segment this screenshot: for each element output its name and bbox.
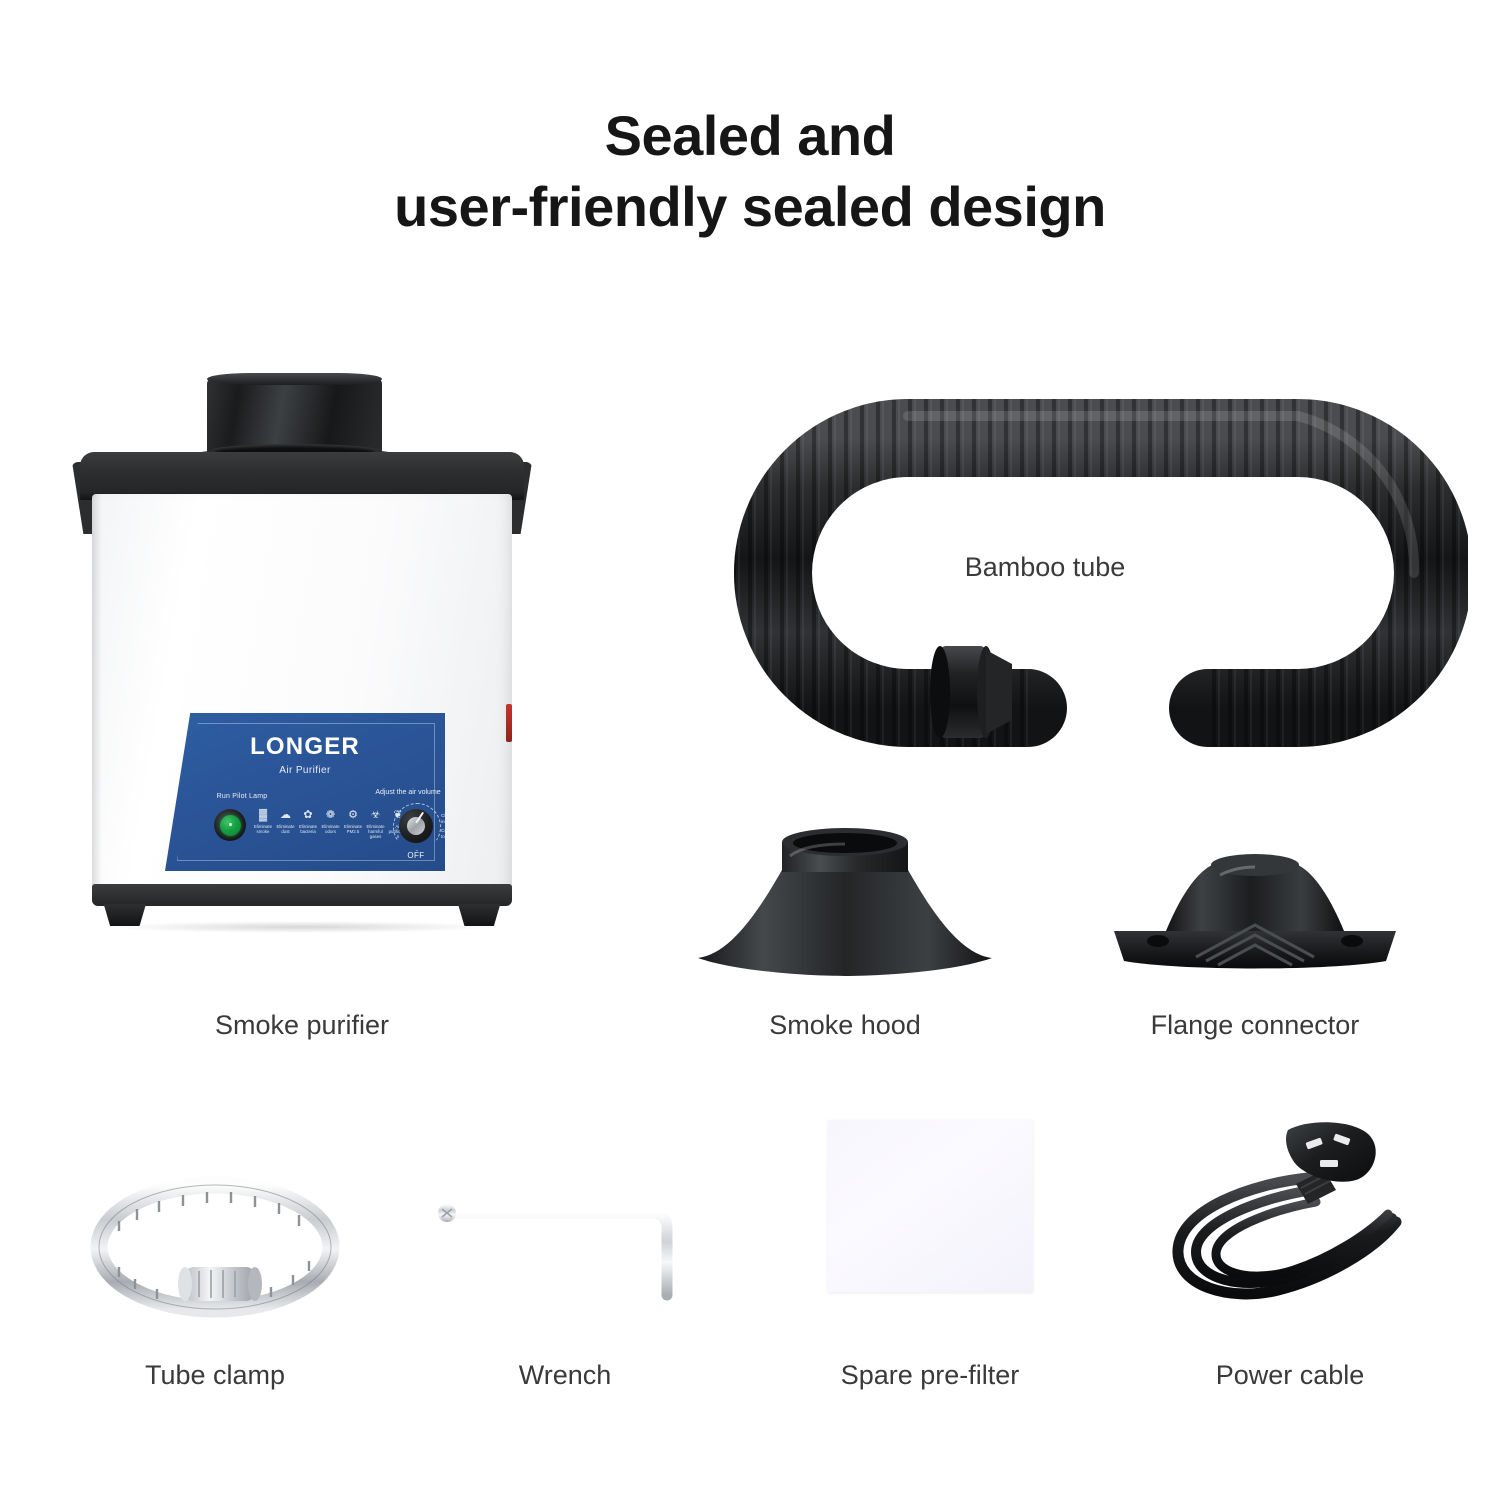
purifier-side-decal <box>506 704 512 742</box>
smoke-purifier-image: LONGER Air Purifier Run Pilot Lamp ▓ Eli… <box>72 378 532 958</box>
purifier-top-cap <box>80 452 524 500</box>
caption-smoke-purifier: Smoke purifier <box>72 1010 532 1041</box>
eliminate-dust-label: Eliminate dust <box>276 824 296 834</box>
function-eliminate-pm25: ⚙ Eliminate PM2.5 <box>343 809 363 834</box>
clamp-screw-housing <box>178 1267 262 1301</box>
function-icon-row: ▓ Eliminate smoke ☁ Eliminate dust ✿ Eli… <box>253 809 408 847</box>
page-title-line2: user-friendly sealed design <box>0 171 1500 243</box>
purifier-control-panel: LONGER Air Purifier Run Pilot Lamp ▓ Eli… <box>165 713 445 871</box>
caption-wrench: Wrench <box>425 1360 705 1391</box>
knob-cap[interactable] <box>399 809 433 843</box>
spare-pre-filter-image <box>828 1120 1033 1292</box>
eliminate-bacteria-label: Eliminate bacteria <box>298 824 318 834</box>
eliminate-odors-label: Eliminate odors <box>321 824 341 834</box>
flange-connector-image <box>1100 845 1410 990</box>
caption-bamboo-tube: Bamboo tube <box>835 552 1255 583</box>
caption-spare-pre-filter: Spare pre-filter <box>790 1360 1070 1391</box>
page-title-line1: Sealed and <box>605 104 896 167</box>
power-cable-image <box>1160 1118 1425 1318</box>
caption-tube-clamp: Tube clamp <box>75 1360 355 1391</box>
run-pilot-lamp-label: Run Pilot Lamp <box>187 793 297 800</box>
knob-off-label: OFF <box>393 851 439 860</box>
tube-clamp-image <box>75 1175 355 1325</box>
lamp-indicator-icon <box>220 815 241 836</box>
purifier-base-plinth <box>92 884 512 906</box>
eliminate-pm25-icon: ⚙ <box>343 809 363 822</box>
function-eliminate-bacteria: ✿ Eliminate bacteria <box>298 809 318 834</box>
wrench-image <box>425 1195 705 1315</box>
purifier-shadow <box>108 921 496 933</box>
eliminate-odors-icon: ❁ <box>321 809 341 822</box>
smoke-hood-svg <box>690 820 1000 990</box>
function-eliminate-smoke: ▓ Eliminate smoke <box>253 809 273 834</box>
caption-flange-connector: Flange connector <box>1100 1010 1410 1041</box>
flange-connector-svg <box>1100 845 1410 990</box>
tube-clamp-svg <box>75 1175 355 1325</box>
power-cable-svg <box>1160 1118 1425 1318</box>
page-title: Sealed and user-friendly sealed design <box>0 100 1500 243</box>
eliminate-smoke-icon: ▓ <box>253 809 273 822</box>
product-subtitle: Air Purifier <box>165 765 445 776</box>
run-pilot-lamp-button[interactable] <box>214 809 246 841</box>
brand-logo: LONGER <box>165 733 445 761</box>
caption-smoke-hood: Smoke hood <box>690 1010 1000 1041</box>
product-accessories-page: Sealed and user-friendly sealed design L… <box>0 0 1500 1500</box>
eliminate-pm25-label: Eliminate PM2.5 <box>343 824 363 834</box>
eliminate-harmful-gases-label: Eliminate harmful gases <box>366 824 386 840</box>
tube-cuff-connector <box>930 646 1012 738</box>
cable-plug <box>1286 1122 1376 1181</box>
flange-mount-hole-left <box>1147 935 1169 947</box>
purifier-body-edge <box>92 494 102 890</box>
wrench-shaft <box>447 1213 667 1295</box>
eliminate-bacteria-icon: ✿ <box>298 809 318 822</box>
function-eliminate-odors: ❁ Eliminate odors <box>321 809 341 834</box>
flange-mount-hole-right <box>1341 935 1363 947</box>
air-volume-knob[interactable] <box>393 803 439 849</box>
function-eliminate-dust: ☁ Eliminate dust <box>276 809 296 834</box>
eliminate-smoke-label: Eliminate smoke <box>253 824 273 834</box>
eliminate-dust-icon: ☁ <box>276 809 296 822</box>
caption-power-cable: Power cable <box>1150 1360 1430 1391</box>
wrench-svg <box>425 1195 705 1315</box>
eliminate-harmful-gases-icon: ☣ <box>366 809 386 822</box>
hood-skirt <box>698 870 992 976</box>
smoke-hood-image <box>690 820 1000 990</box>
function-eliminate-harmful-gases: ☣ Eliminate harmful gases <box>366 809 386 840</box>
